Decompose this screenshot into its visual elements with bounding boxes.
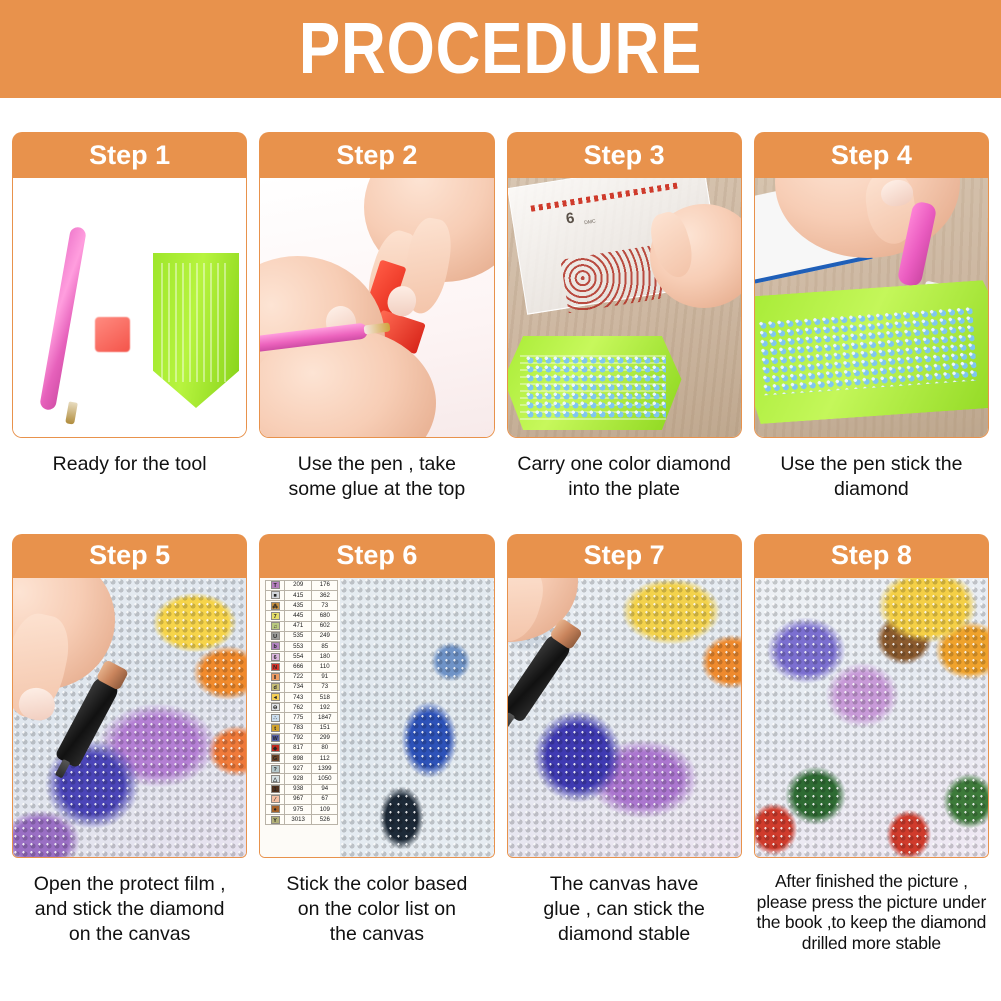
step-5-badge: Step 5 xyxy=(89,542,170,569)
color-code-cell: 554 xyxy=(284,652,311,662)
color-code-cell: 762 xyxy=(284,703,311,713)
step-8-badge: Step 8 xyxy=(831,542,912,569)
step-6-caption-line-2: on the color list on xyxy=(261,897,492,922)
color-symbol-cell: 1 xyxy=(266,784,285,794)
step-3-caption: Carry one color diamond into the plate xyxy=(507,452,742,502)
step-3-caption-line-2: into the plate xyxy=(509,477,740,502)
color-symbol-cell: 6 xyxy=(266,652,285,662)
step-6-caption-line-3: the canvas xyxy=(261,922,492,947)
pen-tip-icon xyxy=(65,401,78,424)
diamond-canvas-illustration xyxy=(340,578,493,857)
color-symbol-cell: ◄ xyxy=(266,692,285,702)
color-swatch: G xyxy=(271,754,280,762)
color-symbol-cell: T xyxy=(266,580,285,590)
color-count-cell: 1399 xyxy=(312,764,338,774)
color-swatch: ● xyxy=(271,805,280,813)
colorlist-and-canvas: T209176■415362⁂435737445680♫471602U53524… xyxy=(260,578,493,857)
color-symbol-cell: ♫ xyxy=(266,621,285,631)
color-code-cell: 792 xyxy=(284,733,311,743)
step-card-8[interactable]: Step 8 After finished the picture , plea… xyxy=(754,534,989,954)
color-list-row: ◈81780 xyxy=(266,743,338,753)
color-count-cell: 80 xyxy=(312,743,338,753)
color-count-cell: 94 xyxy=(312,784,338,794)
canvas-photo xyxy=(340,578,493,857)
glue-square-icon xyxy=(95,317,130,352)
color-list-row: 6554180 xyxy=(266,652,338,662)
step-2-image xyxy=(259,178,494,438)
color-swatch: 6 xyxy=(271,653,280,661)
color-swatch: Y xyxy=(271,816,280,824)
blue-diamonds-in-tray xyxy=(758,307,977,396)
color-swatch: 1 xyxy=(271,785,280,793)
pink-pen-icon xyxy=(39,226,87,411)
color-list-row: ♫471602 xyxy=(266,621,338,631)
color-list-row: ⁂43573 xyxy=(266,601,338,611)
color-symbol-cell: U xyxy=(266,631,285,641)
color-count-cell: 110 xyxy=(312,662,338,672)
color-symbol-cell: ∴ xyxy=(266,713,285,723)
step-1-badge: Step 1 xyxy=(89,142,170,169)
color-code-cell: 471 xyxy=(284,621,311,631)
color-list-row: ⊖762192 xyxy=(266,703,338,713)
color-symbol-cell: ⁂ xyxy=(266,601,285,611)
step-8-caption-line-1: After finished the picture , xyxy=(754,871,989,892)
color-list-row: T209176 xyxy=(266,580,338,590)
color-count-cell: 73 xyxy=(312,682,338,692)
color-count-cell: 526 xyxy=(312,815,338,825)
page-title: PROCEDURE xyxy=(299,13,702,85)
color-list-row: N666110 xyxy=(266,662,338,672)
color-swatch: t xyxy=(271,724,280,732)
step-4-image xyxy=(754,178,989,438)
color-swatch: d xyxy=(271,683,280,691)
pouring-diamonds-illustration: 6 DMC xyxy=(508,178,741,437)
color-symbol-cell: ● xyxy=(266,805,285,815)
color-code-cell: 898 xyxy=(284,754,311,764)
tools-illustration xyxy=(13,178,246,437)
finished-painting-illustration xyxy=(755,578,988,857)
step-3-image: 6 DMC xyxy=(507,178,742,438)
color-code-cell: 435 xyxy=(284,601,311,611)
color-code-cell: 445 xyxy=(284,611,311,621)
step-card-3[interactable]: Step 3 6 DMC Carry one color diamond int… xyxy=(507,132,742,502)
color-count-cell: 91 xyxy=(312,672,338,682)
color-list-row: Y3013526 xyxy=(266,815,338,825)
color-list-row: U535249 xyxy=(266,631,338,641)
hands-with-glue-illustration xyxy=(260,178,493,437)
color-count-cell: 680 xyxy=(312,611,338,621)
color-list-row: 7445680 xyxy=(266,611,338,621)
step-card-5[interactable]: Step 5 Open the protect film , and stick… xyxy=(12,534,247,954)
step-2-caption: Use the pen , take some glue at the top xyxy=(259,452,494,502)
step-8-image xyxy=(754,578,989,858)
color-list-row: △9281050 xyxy=(266,774,338,784)
color-count-cell: 112 xyxy=(312,754,338,764)
color-list-row: ●975109 xyxy=(266,805,338,815)
color-symbol-cell: ■ xyxy=(266,591,285,601)
color-swatch: 7 xyxy=(271,612,280,620)
step-7-caption: The canvas have glue , can stick the dia… xyxy=(507,872,742,947)
color-symbol-cell: ? xyxy=(266,764,285,774)
step-8-caption-line-2: please press the picture under xyxy=(754,892,989,913)
step-card-2[interactable]: Step 2 Use the pen , take some glue at t… xyxy=(259,132,494,502)
color-swatch: ∴ xyxy=(271,714,280,722)
color-count-cell: 362 xyxy=(312,591,338,601)
step-7-badge: Step 7 xyxy=(584,542,665,569)
color-code-cell: 967 xyxy=(284,794,311,804)
color-list-table: T209176■415362⁂435737445680♫471602U53524… xyxy=(265,580,338,826)
color-symbol-cell: ⁄ xyxy=(266,794,285,804)
step-2-caption-line-1: Use the pen , take xyxy=(261,452,492,477)
color-count-cell: 1050 xyxy=(312,774,338,784)
step-3-badge: Step 3 xyxy=(584,142,665,169)
color-symbol-cell: t xyxy=(266,723,285,733)
color-code-cell: 553 xyxy=(284,642,311,652)
color-list-row: d73473 xyxy=(266,682,338,692)
step-2-caption-line-2: some glue at the top xyxy=(261,477,492,502)
step-4-header: Step 4 xyxy=(754,132,989,178)
page-header-banner: PROCEDURE xyxy=(0,0,1001,98)
color-code-cell: 415 xyxy=(284,591,311,601)
step-1-image xyxy=(12,178,247,438)
step-7-caption-line-2: glue , can stick the xyxy=(509,897,740,922)
color-count-cell: 192 xyxy=(312,703,338,713)
color-code-cell: 209 xyxy=(284,580,311,590)
step-3-caption-line-1: Carry one color diamond xyxy=(509,452,740,477)
step-4-badge: Step 4 xyxy=(831,142,912,169)
color-list-row: t783151 xyxy=(266,723,338,733)
color-symbol-cell: ⊖ xyxy=(266,703,285,713)
color-code-cell: 3013 xyxy=(284,815,311,825)
color-swatch: N xyxy=(271,663,280,671)
color-symbol-cell: 7 xyxy=(266,611,285,621)
step-card-7[interactable]: Step 7 The canvas have glue , can stick … xyxy=(507,534,742,954)
color-code-cell: 817 xyxy=(284,743,311,753)
step-4-caption-line-1: Use the pen stick the xyxy=(756,452,987,477)
color-symbol-cell: ‖ xyxy=(266,672,285,682)
step-6-caption-line-1: Stick the color based xyxy=(261,872,492,897)
color-swatch: ⊖ xyxy=(271,703,280,711)
color-code-cell: 938 xyxy=(284,784,311,794)
color-swatch: ‖ xyxy=(271,673,280,681)
color-code-cell: 743 xyxy=(284,692,311,702)
color-list-row: b55385 xyxy=(266,642,338,652)
color-list-row: ∴7751847 xyxy=(266,713,338,723)
step-6-caption: Stick the color based on the color list … xyxy=(259,872,494,947)
step-7-header: Step 7 xyxy=(507,534,742,578)
color-count-cell: 602 xyxy=(312,621,338,631)
color-code-cell: 775 xyxy=(284,713,311,723)
step-6-header: Step 6 xyxy=(259,534,494,578)
color-symbol-cell: N xyxy=(266,662,285,672)
color-swatch: ? xyxy=(271,765,280,773)
color-count-cell: 299 xyxy=(312,733,338,743)
color-list-row: W792299 xyxy=(266,733,338,743)
step-5-header: Step 5 xyxy=(12,534,247,578)
step-2-badge: Step 2 xyxy=(336,142,417,169)
color-symbol-cell: d xyxy=(266,682,285,692)
step-8-header: Step 8 xyxy=(754,534,989,578)
color-swatch: W xyxy=(271,734,280,742)
color-swatch: ◈ xyxy=(271,744,280,752)
color-count-cell: 109 xyxy=(312,805,338,815)
step-8-caption-line-3: the book ,to keep the diamond xyxy=(754,912,989,933)
color-code-cell: 722 xyxy=(284,672,311,682)
step-5-caption-line-2: and stick the diamond xyxy=(14,897,245,922)
step-2-header: Step 2 xyxy=(259,132,494,178)
color-swatch: U xyxy=(271,632,280,640)
color-code-cell: 535 xyxy=(284,631,311,641)
steps-row-bottom: Step 5 Open the protect film , and stick… xyxy=(0,534,1001,954)
steps-row-top: Step 1 Ready for the tool Step 2 xyxy=(0,132,1001,502)
pen-picking-diamond-illustration xyxy=(755,178,988,437)
step-4-caption-line-2: diamond xyxy=(756,477,987,502)
step-8-caption: After finished the picture , please pres… xyxy=(754,871,989,954)
color-swatch: T xyxy=(271,581,280,589)
color-swatch: b xyxy=(271,642,280,650)
color-swatch: ⁄ xyxy=(271,795,280,803)
color-list-row: G898112 xyxy=(266,754,338,764)
color-code-cell: 734 xyxy=(284,682,311,692)
color-symbol-cell: G xyxy=(266,754,285,764)
color-code-cell: 927 xyxy=(284,764,311,774)
blue-diamonds-in-tray xyxy=(526,356,666,418)
color-swatch: ⁂ xyxy=(271,602,280,610)
color-list-row: ◄743518 xyxy=(266,692,338,702)
color-code-cell: 783 xyxy=(284,723,311,733)
step-6-badge: Step 6 xyxy=(336,542,417,569)
step-card-6[interactable]: Step 6 T209176■415362⁂435737445680♫47160… xyxy=(259,534,494,954)
color-code-cell: 666 xyxy=(284,662,311,672)
step-5-image xyxy=(12,578,247,858)
color-swatch: ◄ xyxy=(271,693,280,701)
color-list-row: ‖72291 xyxy=(266,672,338,682)
step-card-1[interactable]: Step 1 Ready for the tool xyxy=(12,132,247,502)
color-list-row: 193894 xyxy=(266,784,338,794)
step-5-caption-line-3: on the canvas xyxy=(14,922,245,947)
color-symbol-cell: ◈ xyxy=(266,743,285,753)
color-list-body: T209176■415362⁂435737445680♫471602U53524… xyxy=(266,580,338,825)
color-code-cell: 975 xyxy=(284,805,311,815)
step-3-header: Step 3 xyxy=(507,132,742,178)
step-1-header: Step 1 xyxy=(12,132,247,178)
step-4-caption: Use the pen stick the diamond xyxy=(754,452,989,502)
step-7-caption-line-1: The canvas have xyxy=(509,872,740,897)
color-count-cell: 85 xyxy=(312,642,338,652)
color-symbol-cell: Y xyxy=(266,815,285,825)
color-count-cell: 249 xyxy=(312,631,338,641)
color-symbol-cell: b xyxy=(266,642,285,652)
color-list-row: ■415362 xyxy=(266,591,338,601)
color-count-cell: 73 xyxy=(312,601,338,611)
green-tray-icon xyxy=(153,253,239,408)
color-count-cell: 518 xyxy=(312,692,338,702)
step-7-caption-line-3: diamond stable xyxy=(509,922,740,947)
step-5-caption: Open the protect film , and stick the di… xyxy=(12,872,247,947)
color-count-cell: 176 xyxy=(312,580,338,590)
color-list-chart: T209176■415362⁂435737445680♫471602U53524… xyxy=(260,578,340,857)
color-symbol-cell: △ xyxy=(266,774,285,784)
color-swatch: ♫ xyxy=(271,622,280,630)
step-5-caption-line-1: Open the protect film , xyxy=(14,872,245,897)
color-count-cell: 67 xyxy=(312,794,338,804)
color-count-cell: 180 xyxy=(312,652,338,662)
step-8-caption-line-4: drilled more stable xyxy=(754,933,989,954)
color-code-cell: 928 xyxy=(284,774,311,784)
color-swatch: △ xyxy=(271,775,280,783)
color-count-cell: 1847 xyxy=(312,713,338,723)
step-card-4[interactable]: Step 4 Use the pen stick the diamond xyxy=(754,132,989,502)
step-1-caption-line-1: Ready for the tool xyxy=(14,452,245,477)
color-symbol-cell: W xyxy=(266,733,285,743)
color-list-row: ⁄96767 xyxy=(266,794,338,804)
color-count-cell: 151 xyxy=(312,723,338,733)
step-1-caption: Ready for the tool xyxy=(12,452,247,477)
step-6-image: T209176■415362⁂435737445680♫471602U53524… xyxy=(259,578,494,858)
step-7-image xyxy=(507,578,742,858)
color-swatch: ■ xyxy=(271,591,280,599)
color-list-row: ?9271399 xyxy=(266,764,338,774)
